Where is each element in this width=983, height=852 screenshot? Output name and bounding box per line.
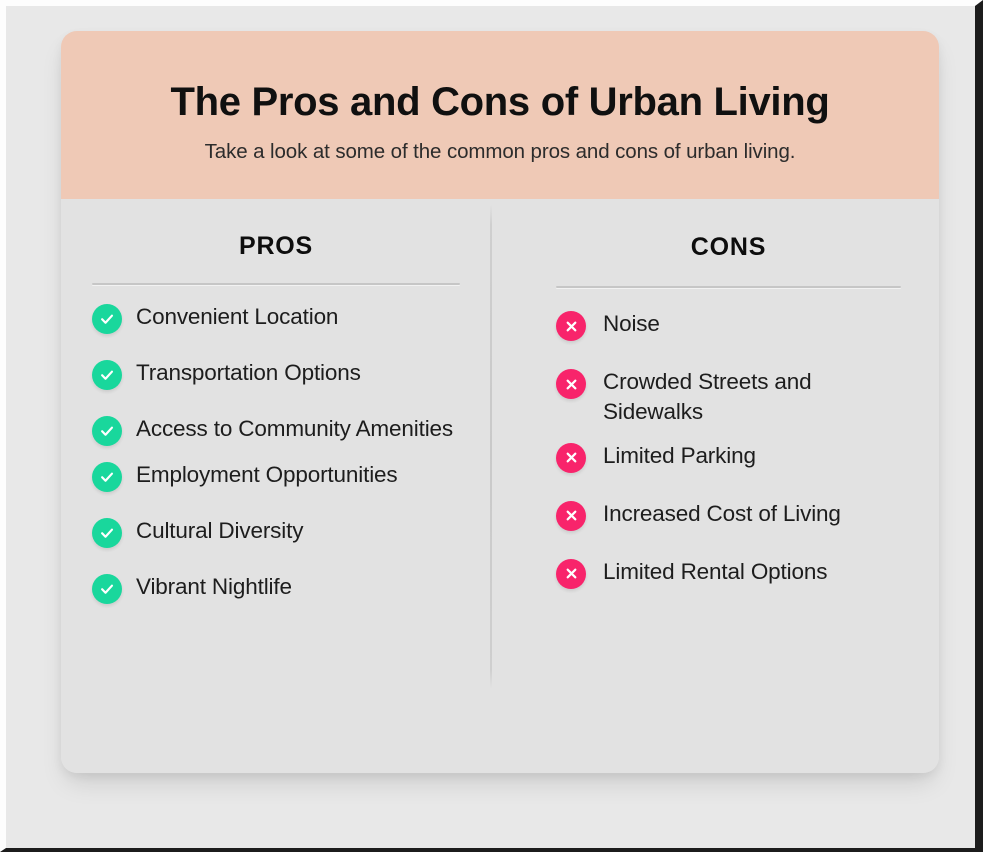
list-item-label: Noise [603,309,660,339]
list-item[interactable]: Noise [556,309,901,341]
list-item[interactable]: Cultural Diversity [92,516,460,548]
columns-container: PROS Convenient Location [61,199,939,773]
pros-list: Convenient Location Transportation Optio… [92,285,460,604]
x-circle-icon [556,369,586,399]
list-item-label: Transportation Options [136,358,361,388]
list-item-label: Limited Rental Options [603,557,827,587]
list-item-label: Access to Community Amenities [136,414,453,444]
card-body: PROS Convenient Location [61,199,939,773]
list-item-label: Vibrant Nightlife [136,572,292,602]
column-cons: CONS Noise [500,199,939,773]
list-item-label: Crowded Streets and Sidewalks [603,367,901,427]
pros-cons-card: The Pros and Cons of Urban Living Take a… [61,31,939,773]
list-item[interactable]: Vibrant Nightlife [92,572,460,604]
page-subtitle: Take a look at some of the common pros a… [61,123,939,164]
list-item[interactable]: Crowded Streets and Sidewalks [556,367,901,427]
list-item[interactable]: Convenient Location [92,302,460,334]
x-circle-icon [556,501,586,531]
check-circle-icon [92,574,122,604]
column-heading-cons: CONS [556,199,901,262]
card-header: The Pros and Cons of Urban Living Take a… [61,31,939,199]
list-item[interactable]: Access to Community Amenities [92,414,460,446]
list-item-label: Cultural Diversity [136,516,303,546]
list-item-label: Increased Cost of Living [603,499,841,529]
x-circle-icon [556,559,586,589]
cons-list: Noise Crowded Streets and Sidewalks [556,288,901,589]
check-circle-icon [92,304,122,334]
page-title: The Pros and Cons of Urban Living [61,31,939,123]
check-circle-icon [92,518,122,548]
column-pros: PROS Convenient Location [61,199,500,773]
list-item[interactable]: Limited Parking [556,441,901,473]
check-circle-icon [92,360,122,390]
check-circle-icon [92,416,122,446]
list-item[interactable]: Employment Opportunities [92,460,460,492]
stage: The Pros and Cons of Urban Living Take a… [0,0,983,852]
x-circle-icon [556,443,586,473]
list-item[interactable]: Transportation Options [92,358,460,390]
check-circle-icon [92,462,122,492]
list-item-label: Convenient Location [136,302,338,332]
list-item[interactable]: Increased Cost of Living [556,499,901,531]
list-item-label: Limited Parking [603,441,756,471]
list-item-label: Employment Opportunities [136,460,398,490]
x-circle-icon [556,311,586,341]
list-item[interactable]: Limited Rental Options [556,557,901,589]
column-heading-pros: PROS [92,199,460,261]
